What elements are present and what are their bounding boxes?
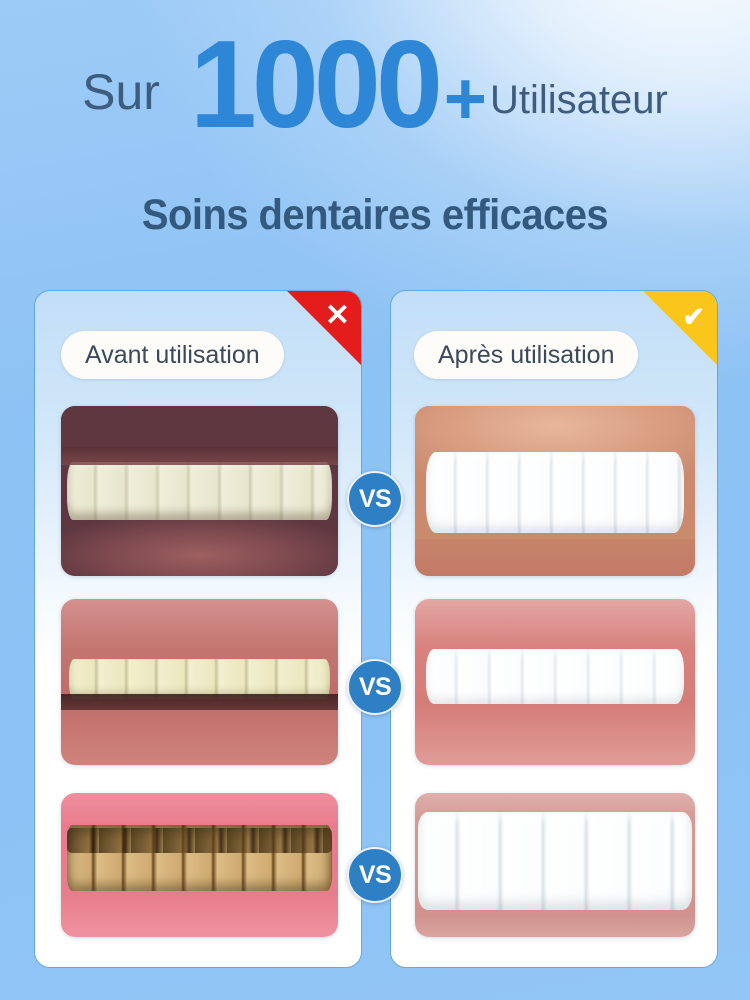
before-label-pill: Avant utilisation <box>61 331 284 379</box>
before-photo-1-image <box>61 406 338 576</box>
headline-prefix: Sur <box>82 67 160 117</box>
before-photo-3-image <box>61 793 338 937</box>
after-card: ✔ Après utilisation <box>390 290 718 968</box>
vs-badge-row-1: VS <box>347 471 403 527</box>
check-icon: ✔ <box>682 304 705 331</box>
before-photo-2-image <box>61 599 338 765</box>
headline-suffix: Utilisateur <box>490 80 668 120</box>
headline: Sur 1000 + Utilisateur <box>0 28 750 146</box>
headline-plus-sign: + <box>444 62 487 136</box>
after-photo-2-image <box>415 599 695 765</box>
after-label-pill: Après utilisation <box>414 331 638 379</box>
before-card: ✕ Avant utilisation <box>34 290 362 968</box>
before-photo-3 <box>61 793 338 937</box>
after-photo-2 <box>415 599 695 765</box>
vs-badge-row-3: VS <box>347 847 403 903</box>
after-photo-3-image <box>415 793 695 937</box>
after-photo-3 <box>415 793 695 937</box>
promo-banner: Sur 1000 + Utilisateur Soins dentaires e… <box>0 0 750 1000</box>
before-photo-1 <box>61 406 338 576</box>
after-corner-flag: ✔ <box>643 291 717 365</box>
before-photo-2 <box>61 599 338 765</box>
before-corner-flag: ✕ <box>287 291 361 365</box>
vs-badge-row-2: VS <box>347 659 403 715</box>
subheadline: Soins dentaires efficaces <box>26 186 724 244</box>
after-photo-1 <box>415 406 695 576</box>
corner-triangle-yellow <box>643 291 717 365</box>
headline-count: 1000 <box>190 23 438 147</box>
after-photo-1-image <box>415 406 695 576</box>
close-icon: ✕ <box>325 301 350 331</box>
